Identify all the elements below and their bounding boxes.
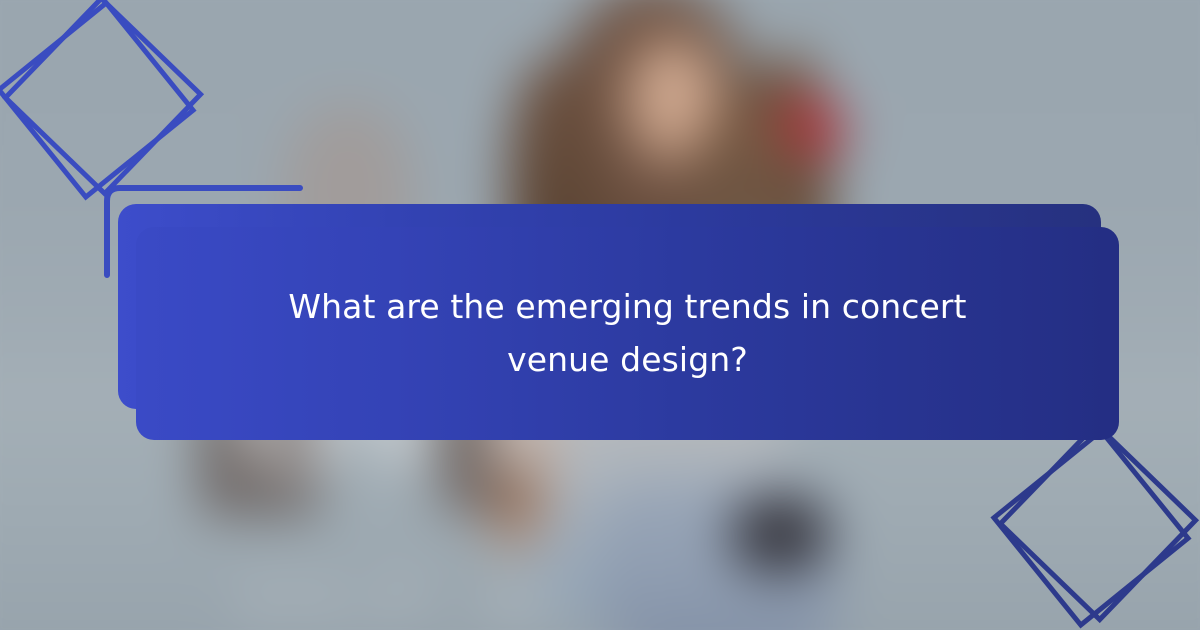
decorative-square-icon	[1000, 424, 1195, 619]
poster-canvas: O V E O V E What are the emerging trends…	[0, 0, 1200, 630]
photo-person-shoe	[732, 495, 828, 573]
photo-floor-letter-reflection: E	[480, 567, 571, 630]
photo-floor-letter-reflection: O	[240, 567, 345, 630]
quote-card[interactable]: What are the emerging trends in concert …	[136, 227, 1119, 440]
decorative-square-icon	[0, 3, 193, 197]
decorative-square-icon	[5, 0, 200, 194]
decorative-square-icon	[994, 431, 1188, 625]
question-title: What are the emerging trends in concert …	[278, 281, 978, 385]
photo-floor-letter-reflection: V	[360, 565, 447, 627]
